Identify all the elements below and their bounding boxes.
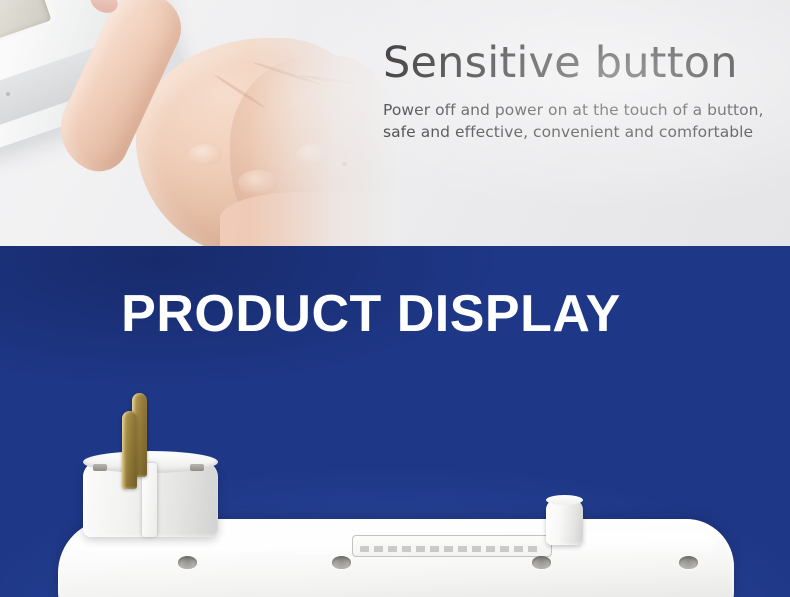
feature-title: Sensitive button — [383, 40, 765, 86]
feature-description: Power off and power on at the touch of a… — [383, 99, 765, 143]
knob-switch — [546, 499, 583, 545]
hand-pressing-button-photo — [0, 0, 400, 246]
sensitive-button-section: Sensitive button Power off and power on … — [0, 0, 790, 246]
power-strip-product-photo — [0, 407, 790, 597]
screw-hole — [532, 556, 551, 569]
brass-plug-pin — [122, 411, 137, 489]
indicator-dot — [6, 92, 10, 96]
screw-hole — [679, 556, 698, 569]
knuckle-highlight — [188, 144, 222, 166]
embossed-label-text — [360, 546, 540, 552]
feature-copy-block: Sensitive button Power off and power on … — [383, 40, 765, 143]
photo-fade-overlay — [250, 0, 400, 246]
schuko-earth-notch — [93, 464, 107, 471]
product-display-title: PRODUCT DISPLAY — [0, 288, 790, 340]
product-detail-page: Sensitive button Power off and power on … — [0, 0, 790, 597]
screw-hole — [178, 556, 197, 569]
schuko-earth-notch — [190, 464, 204, 471]
screw-hole — [332, 556, 351, 569]
product-display-section: PRODUCT DISPLAY — [0, 246, 790, 597]
knob-switch-top — [546, 495, 583, 505]
